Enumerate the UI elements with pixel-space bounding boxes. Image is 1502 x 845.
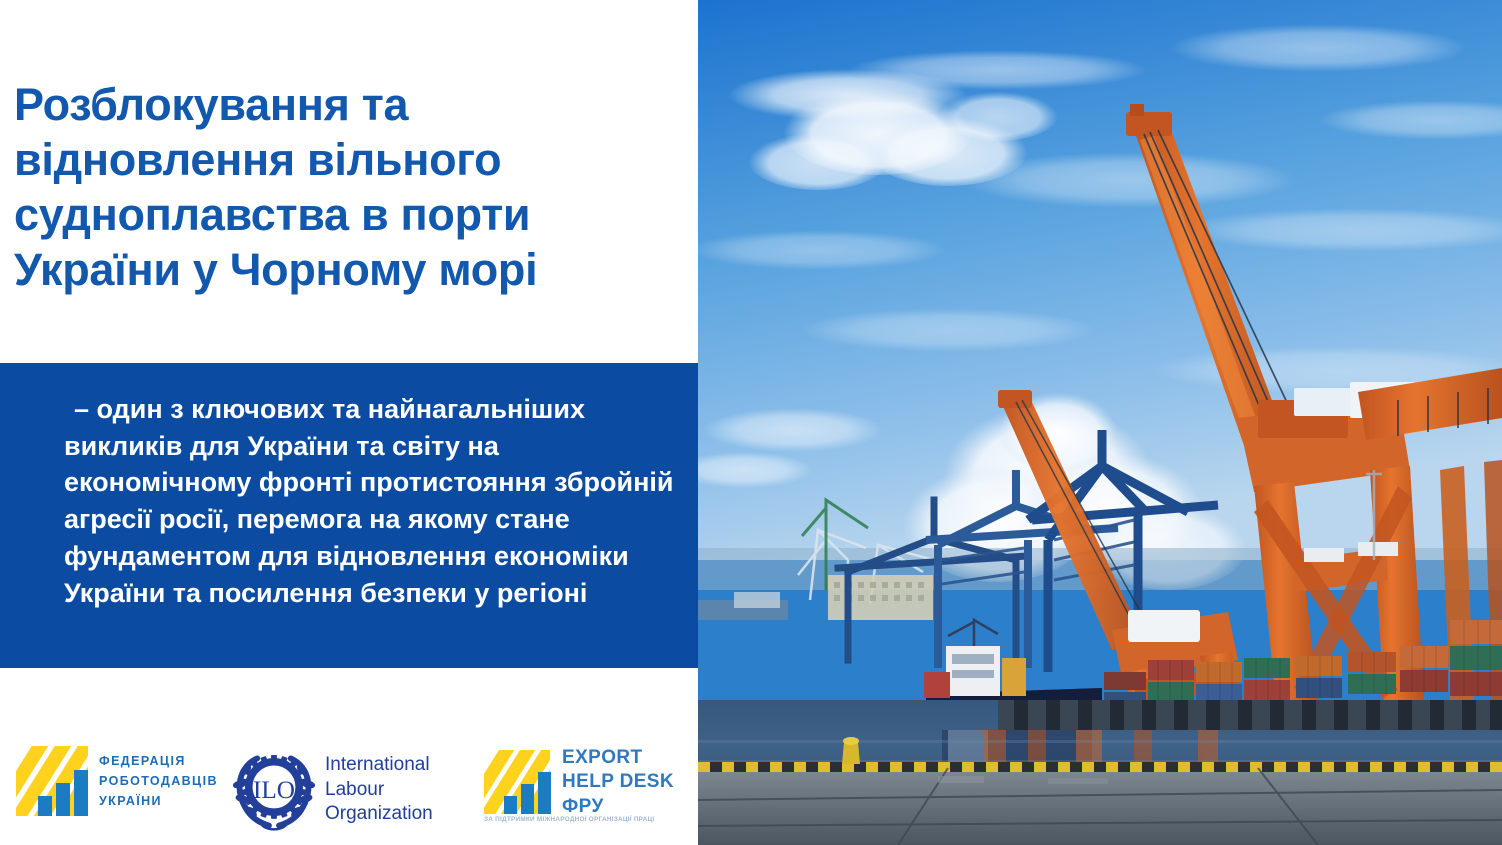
left-content-column: Розблокування та відновлення вільного су… [0,0,698,845]
port-photo [698,0,1502,845]
logo-federation-of-employers-of-ukraine[interactable]: ФЕДЕРАЦІЯ РОБОТОДАВЦІВ УКРАЇНИ [16,746,218,816]
title-block: Розблокування та відновлення вільного су… [14,78,694,298]
page-title: Розблокування та відновлення вільного су… [14,78,694,298]
ilo-emblem-icon: ILO [232,750,316,830]
ilo-logo-label: International Labour Organization [325,753,433,827]
svg-text:ILO: ILO [253,777,295,804]
logo-international-labour-organization[interactable]: ILO International Labour Organization [232,750,433,830]
logo-export-help-desk[interactable]: EXPORT HELP DESK ФРУ ЗА ПІДТРИМКИ МІЖНАР… [484,746,674,819]
logo-strip: ФЕДЕРАЦІЯ РОБОТОДАВЦІВ УКРАЇНИ [0,728,698,838]
fru-logo-label: ФЕДЕРАЦІЯ РОБОТОДАВЦІВ УКРАЇНИ [99,751,218,812]
ehd-bars-icon [484,750,550,814]
fru-bars-icon [16,746,88,816]
slide-canvas: Розблокування та відновлення вільного су… [0,0,1502,845]
ehd-logo-label: EXPORT HELP DESK ФРУ [562,746,674,819]
callout-box: – один з ключових та найнагальніших викл… [0,363,698,668]
callout-text: – один з ключових та найнагальніших викл… [64,391,680,611]
